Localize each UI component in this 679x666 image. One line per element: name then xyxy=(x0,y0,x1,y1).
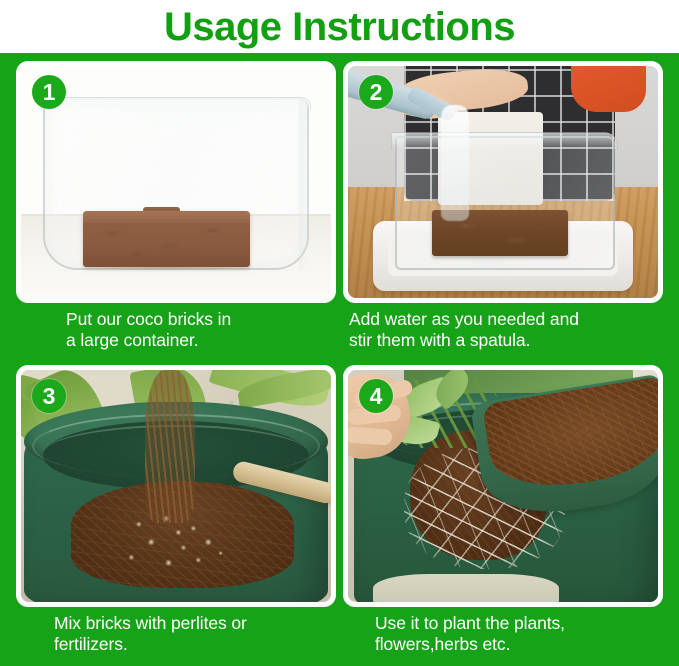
water-stream xyxy=(441,105,469,221)
step-caption-2: Add water as you needed and stir them wi… xyxy=(343,303,663,351)
step-photo-1: 1 xyxy=(21,66,331,298)
step-badge-1: 1 xyxy=(32,75,66,109)
step-photo-2: 2 xyxy=(348,66,658,298)
usage-instructions-poster: Usage Instructions 1 xyxy=(0,0,679,666)
step-card-3: 3 Mix bricks with perlites or fertilizer… xyxy=(16,365,336,663)
brick-texture xyxy=(83,211,250,267)
step-card-4: 4 Use it to plant the plants, flowers,he… xyxy=(343,365,663,663)
step-card-2: 2 Add water as you needed and stir them … xyxy=(343,61,663,359)
clear-box-rim xyxy=(391,132,617,149)
coir-pour-stream xyxy=(145,370,195,523)
step-photo-frame-1: 1 xyxy=(16,61,336,303)
step-caption-4: Use it to plant the plants, flowers,herb… xyxy=(343,607,663,655)
title-band: Usage Instructions xyxy=(0,0,679,53)
step-caption-1: Put our coco bricks in a large container… xyxy=(16,303,336,351)
hand-finger xyxy=(348,426,392,445)
step-photo-frame-4: 4 xyxy=(343,365,663,607)
step-photo-frame-2: 2 xyxy=(343,61,663,303)
container-side-highlight xyxy=(299,98,309,270)
orange-sleeve xyxy=(571,66,645,112)
step-card-1: 1 Put our coco bricks in a large contain… xyxy=(16,61,336,359)
container-rim xyxy=(41,97,311,110)
step-badge-3: 3 xyxy=(32,379,66,413)
step-badge-2: 2 xyxy=(359,75,393,109)
steps-grid: 1 Put our coco bricks in a large contain… xyxy=(0,53,679,666)
step-badge-4: 4 xyxy=(359,379,393,413)
step-photo-frame-3: 3 xyxy=(16,365,336,607)
coco-brick xyxy=(83,211,250,267)
pot-label xyxy=(373,574,559,602)
step-caption-3: Mix bricks with perlites or fertilizers. xyxy=(16,607,336,655)
page-title: Usage Instructions xyxy=(164,7,515,47)
step-photo-3: 3 xyxy=(21,370,331,602)
step-photo-4: 4 xyxy=(348,370,658,602)
